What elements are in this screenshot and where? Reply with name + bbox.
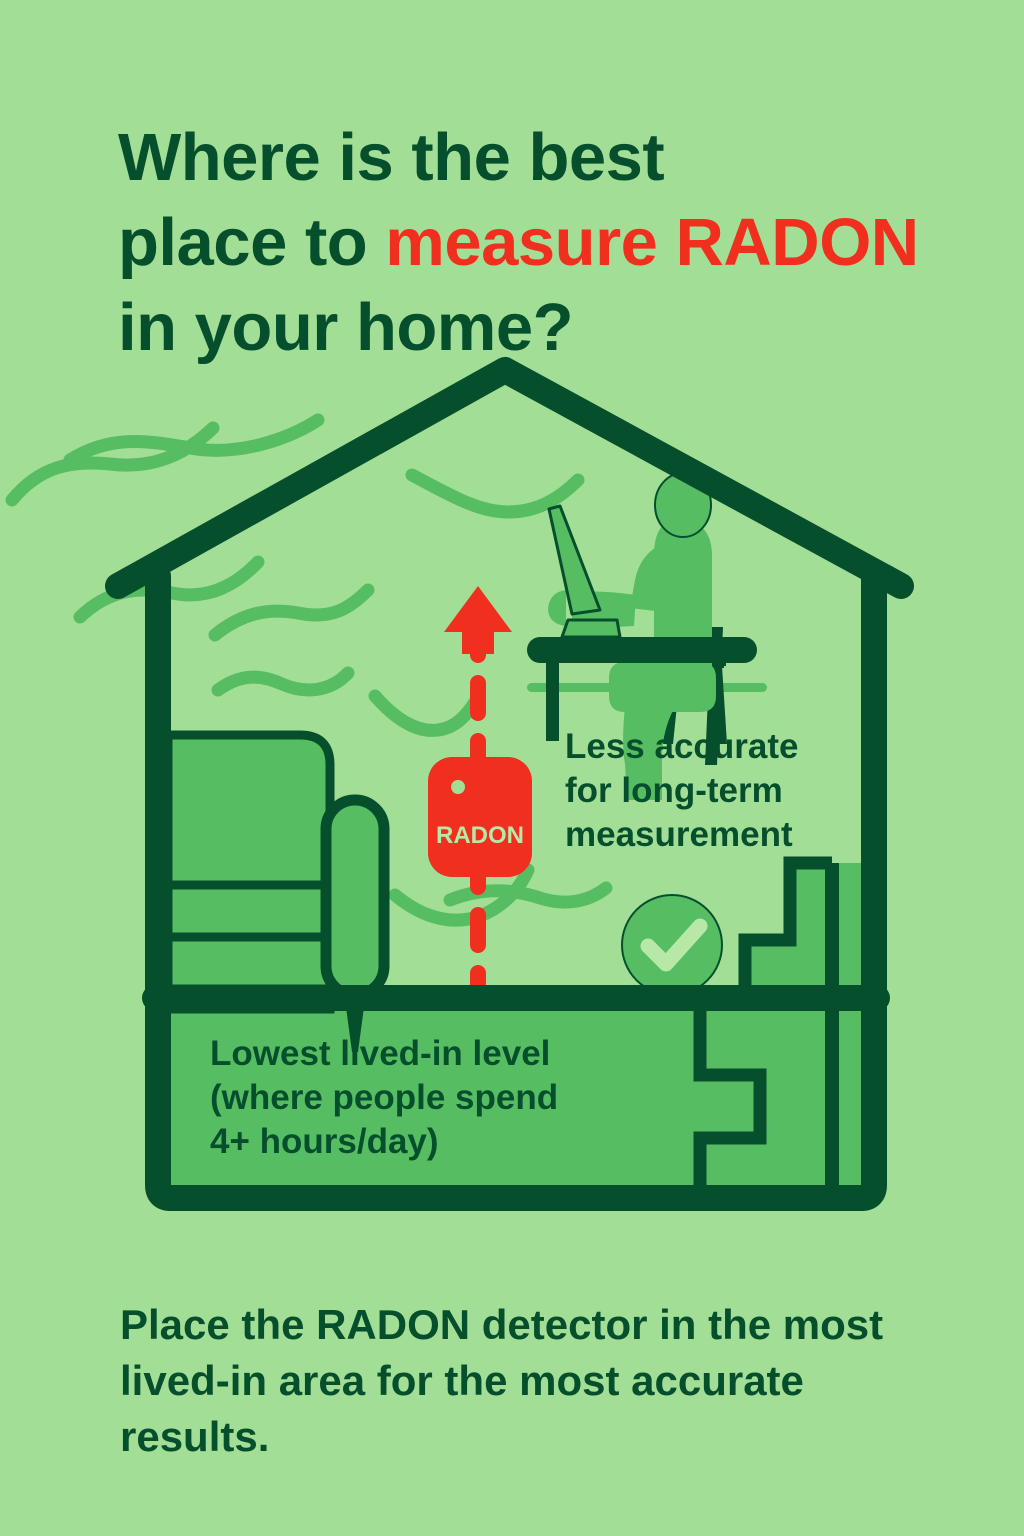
staircase-stringer [825, 863, 839, 1198]
headline-line-1: Where is the best [118, 120, 664, 195]
page-title: Where is the best place to measure RADON… [118, 115, 998, 370]
headline-line-2-prefix: place to [118, 205, 385, 280]
footer-advice-text: Place the RADON detector in the most liv… [120, 1297, 950, 1465]
detector-body [428, 757, 532, 877]
radon-detector[interactable]: RADON [428, 757, 532, 877]
approved-location-check [622, 895, 722, 995]
headline-accent-radon: measure RADON [385, 205, 918, 280]
label-less-accurate: Less accurate for long-term measurement [565, 725, 798, 857]
infographic-poster: Where is the best place to measure RADON… [0, 0, 1024, 1536]
laptop-base [562, 620, 620, 637]
label-lowest-lived-in-level: Lowest lived-in level (where people spen… [210, 1032, 558, 1164]
desk-leg [546, 663, 559, 741]
detector-status-led [451, 780, 465, 794]
desk-top [527, 637, 757, 663]
arrow-head-icon [444, 586, 512, 654]
detector-label: RADON [436, 822, 524, 849]
